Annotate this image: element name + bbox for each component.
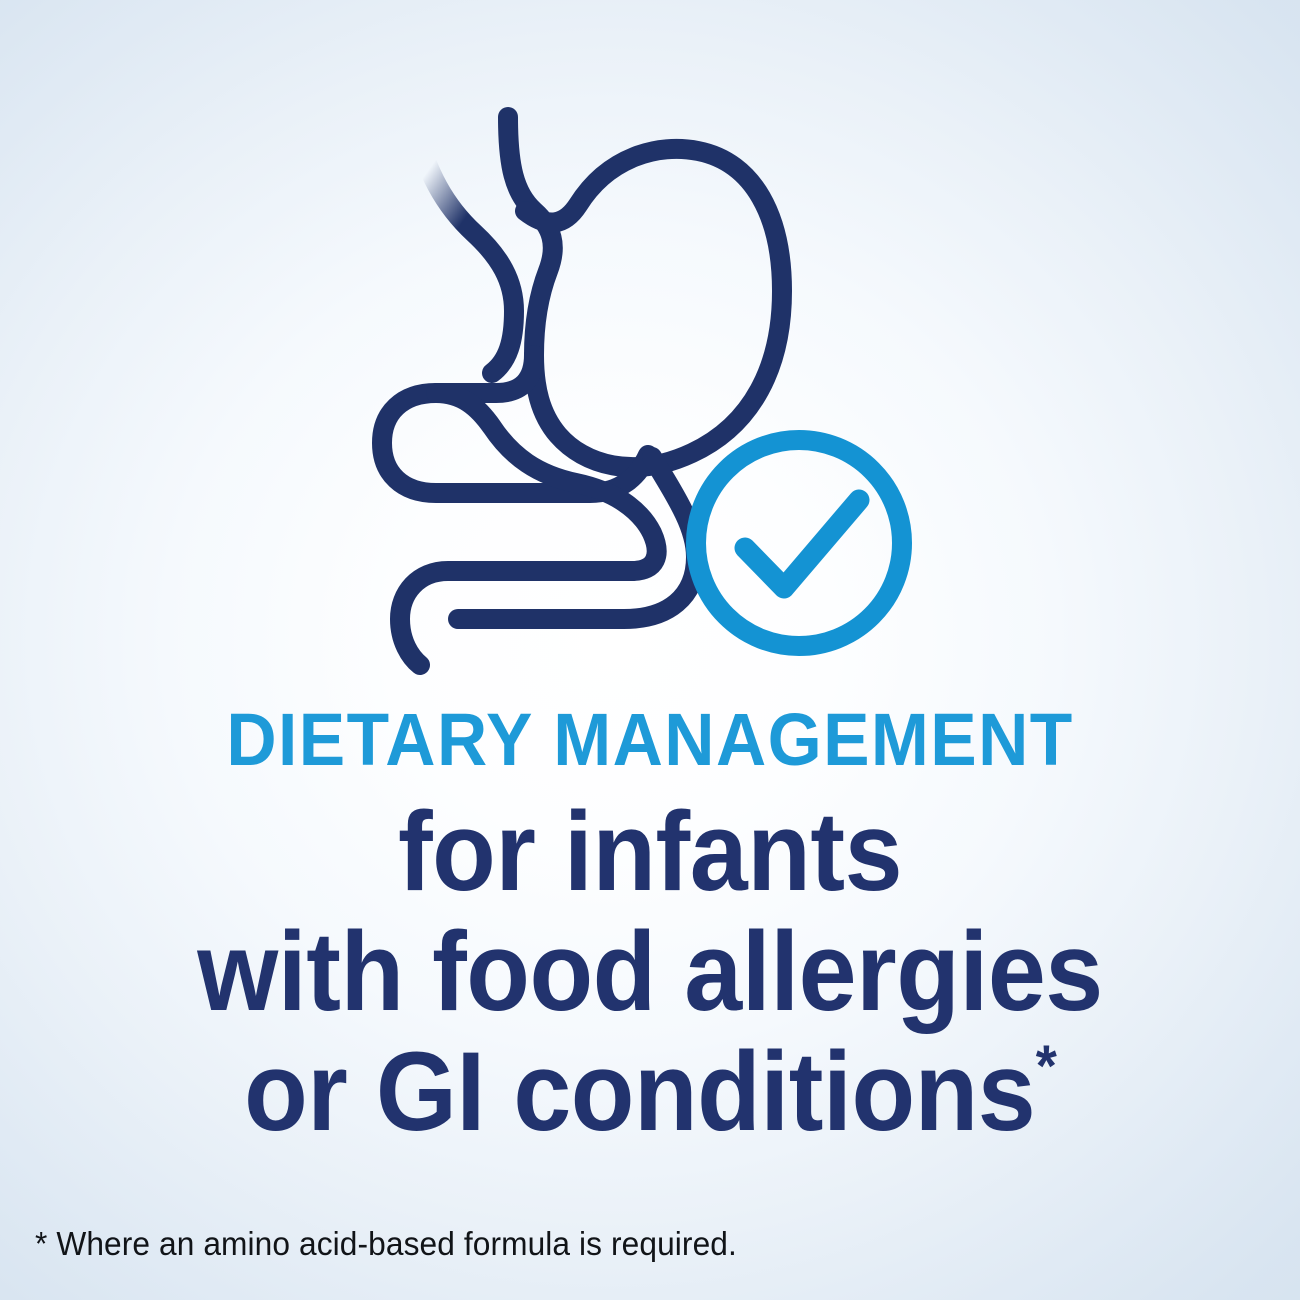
headline-line-3-text: or GI conditions	[244, 1029, 1035, 1154]
headline: for infants with food allergies or GI co…	[0, 796, 1300, 1148]
headline-line-3: or GI conditions*	[46, 1036, 1255, 1148]
headline-superscript-asterisk: *	[1036, 1034, 1057, 1099]
headline-line-2: with food allergies	[46, 916, 1255, 1028]
esophagus	[414, 117, 514, 373]
poster-canvas: DIETARY MANAGEMENT for infants with food…	[0, 0, 1300, 1300]
footnote-text: * Where an amino acid-based formula is r…	[35, 1224, 737, 1264]
stomach-gi-tract-check-icon	[362, 105, 942, 680]
stomach-body	[525, 149, 782, 467]
poster-text-block: DIETARY MANAGEMENT for infants with food…	[0, 700, 1300, 1148]
gi-icon-svg	[362, 105, 942, 680]
check-circle-ring	[696, 440, 902, 646]
check-circle-icon	[696, 440, 902, 646]
headline-line-1: for infants	[46, 796, 1255, 908]
eyebrow-heading: DIETARY MANAGEMENT	[39, 700, 1261, 780]
check-mark	[745, 500, 859, 588]
